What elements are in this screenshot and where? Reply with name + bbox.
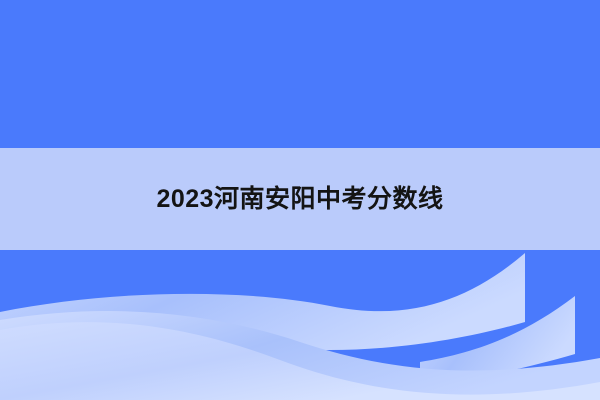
banner-image: 2023河南安阳中考分数线 [0,0,600,400]
wave-graphic [0,250,600,400]
top-blue-background [0,0,600,148]
page-title: 2023河南安阳中考分数线 [156,187,443,212]
title-band: 2023河南安阳中考分数线 [0,148,600,250]
wave-decoration-area [0,250,600,400]
